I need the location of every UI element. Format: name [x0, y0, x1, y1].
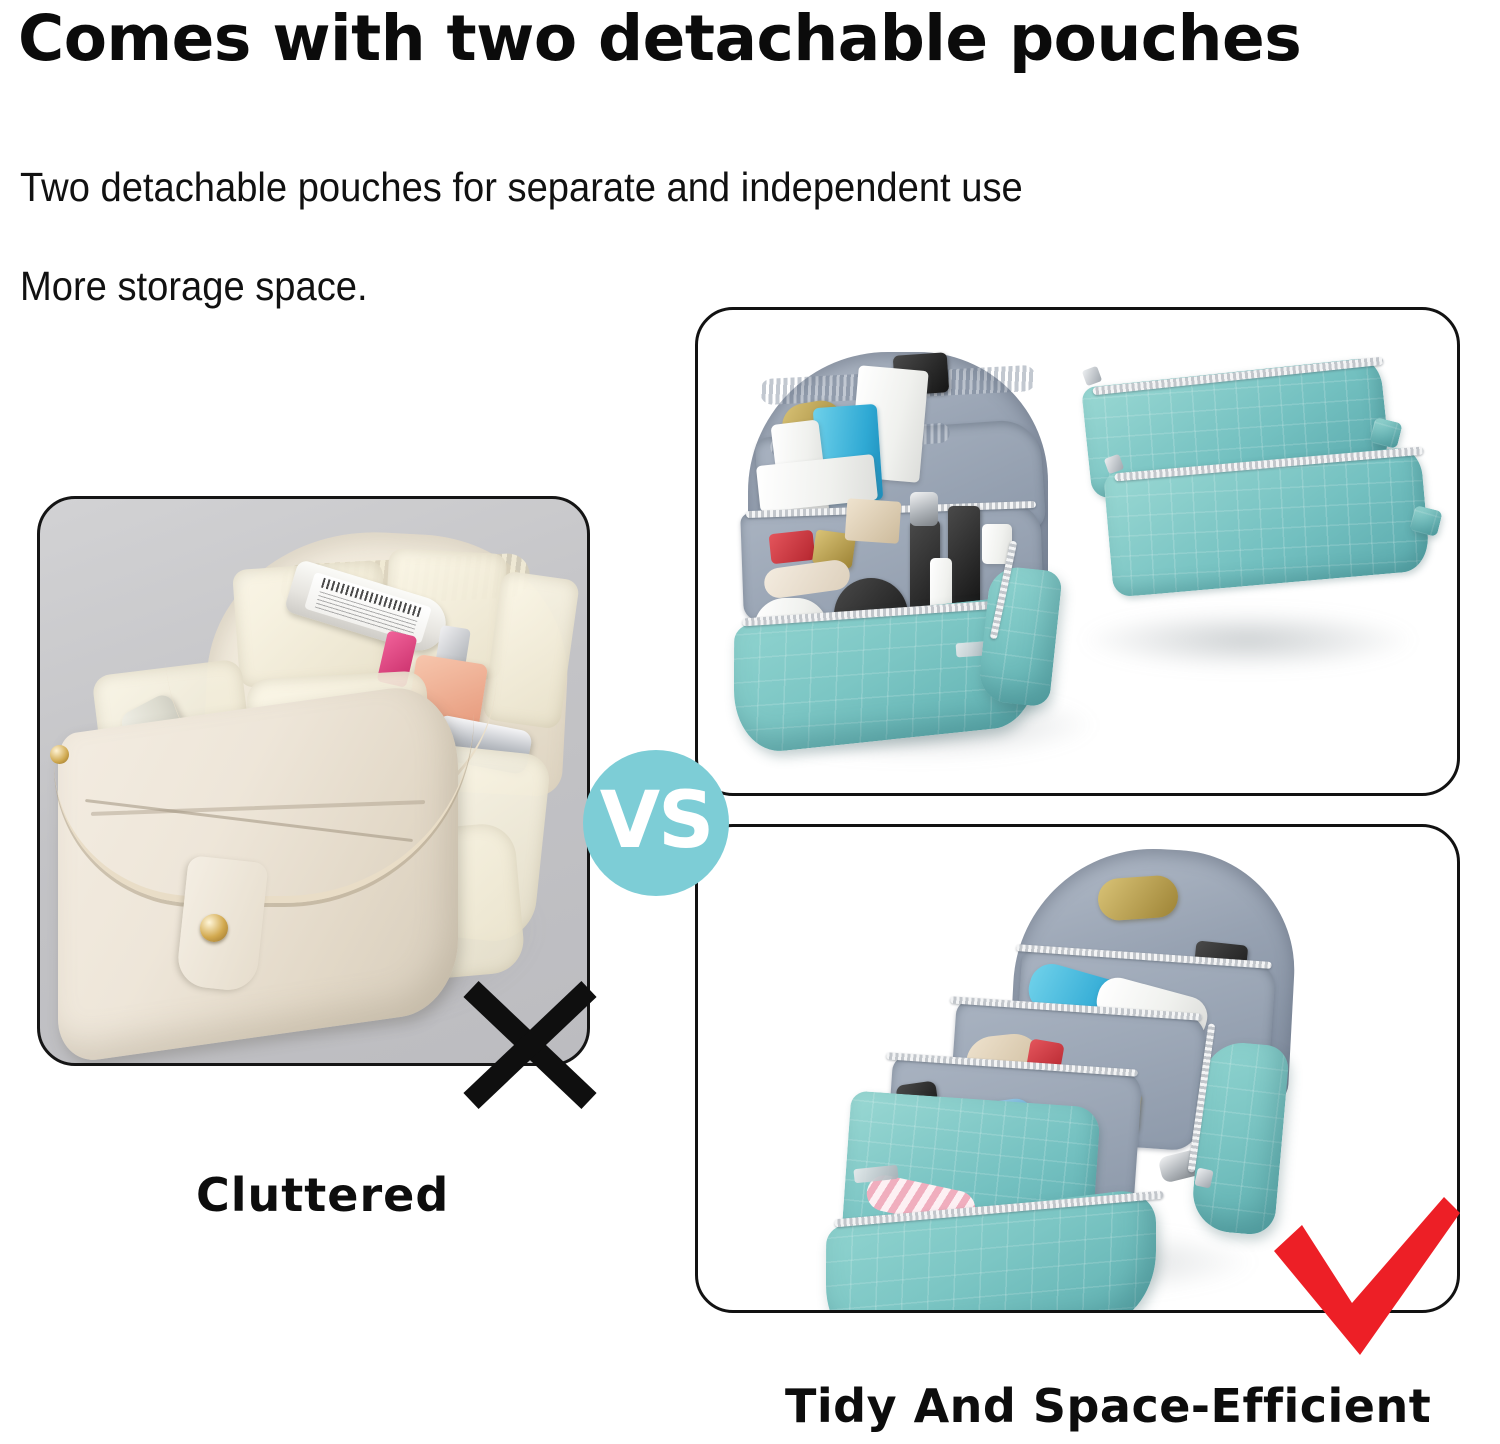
content-gold-jar: [1097, 874, 1180, 921]
pouch-upper-zipper-pull: [1082, 366, 1103, 387]
content-dropper-cap: [910, 492, 938, 526]
detachable-pouch-lower: [1103, 446, 1431, 597]
subtitle-line-1: Two detachable pouches for separate and …: [20, 163, 1023, 211]
content-nail-polish: [948, 506, 980, 610]
photo-shadow: [1078, 610, 1418, 670]
bag-snap-stud: [200, 914, 228, 942]
vs-label: VS: [600, 782, 713, 860]
page-title: Comes with two detachable pouches: [18, 2, 1478, 76]
organized-product-panel-top: [695, 307, 1460, 796]
content-beige-card: [845, 498, 902, 544]
caption-tidy: Tidy And Space-Efficient: [785, 1379, 1431, 1433]
vs-badge: VS: [583, 750, 729, 896]
x-mark-icon: [455, 975, 605, 1115]
check-mark-icon: [1268, 1195, 1463, 1360]
subtitle-line-2: More storage space.: [20, 262, 368, 310]
infographic-canvas: Comes with two detachable pouches Two de…: [0, 0, 1500, 1444]
caption-cluttered: Cluttered: [196, 1168, 449, 1222]
content-red-case: [769, 530, 816, 564]
bag-side-ring: [50, 745, 69, 764]
